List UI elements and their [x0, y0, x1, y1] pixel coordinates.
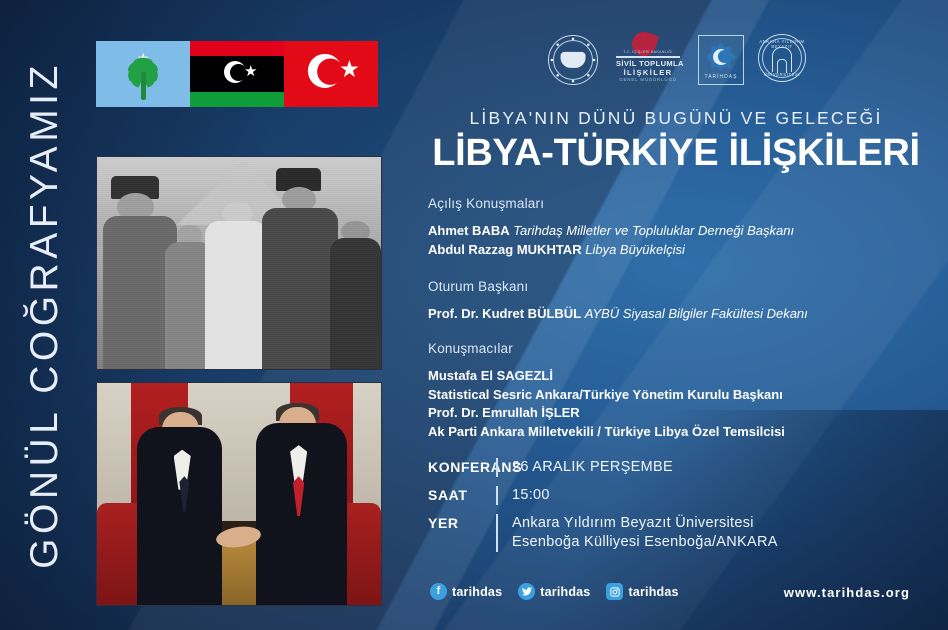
person-entry: Abdul Razzag MUKHTAR Libya Büyükelçisi [428, 241, 928, 259]
person-title: Libya Büyükelçisi [585, 242, 685, 257]
social-links: f tarihdas tarihdas tarihdas [430, 583, 686, 600]
side-title: GÖNÜL COĞRAFYAMIZ [14, 0, 76, 630]
person-title: Tarihdaş Milletler ve Topluluklar Derneğ… [513, 223, 794, 238]
turkey-flag: ★ [284, 41, 378, 107]
detail-label: SAAT [428, 486, 496, 503]
instagram-icon[interactable] [606, 583, 623, 600]
person-name: Abdul Razzag MUKHTAR [428, 242, 582, 257]
person-entry: Ahmet BABA Tarihdaş Milletler ve Toplulu… [428, 222, 928, 240]
social-link-facebook[interactable]: f tarihdas [430, 583, 502, 600]
detail-row-venue: YER Ankara Yıldırım Beyazıt Üniversitesi… [428, 514, 778, 552]
stk-line3: GENEL MÜDÜRLÜĞÜ [616, 77, 680, 82]
modern-photo [96, 382, 382, 606]
poster-kicker: LİBYA'NIN DÜNÜ BUGÜNÜ VE GELECEĞİ [426, 108, 926, 129]
person-entry: Prof. Dr. Kudret BÜLBÜL AYBÜ Siyasal Bil… [428, 305, 928, 323]
speaker-line: Statistical Sesric Ankara/Türkiye Yöneti… [428, 386, 928, 405]
tarihdas-logo: TARİHDAŞ [698, 35, 744, 85]
libya-green-stripe [190, 92, 284, 107]
side-title-text: GÖNÜL COĞRAFYAMIZ [23, 61, 67, 569]
social-handle: tarihdas [628, 585, 678, 599]
crescent-star-icon: ★ [224, 61, 250, 87]
social-link-instagram[interactable]: tarihdas [606, 583, 678, 600]
social-handle: tarihdas [452, 585, 502, 599]
stk-line2: İLİŞKİLER [616, 68, 680, 77]
libya-flag: ★ [190, 41, 284, 107]
ministry-logo [548, 35, 598, 85]
event-details: KONFERANS 26 ARALIK PERŞEMBE SAAT 15:00 … [428, 458, 778, 561]
libya-red-stripe [190, 41, 284, 56]
person-title: AYBÜ Siyasal Bilgiler Fakültesi Dekanı [585, 306, 808, 321]
social-link-twitter[interactable]: tarihdas [518, 583, 590, 600]
detail-divider [496, 514, 498, 552]
stk-line1: SİVİL TOPLUMLA [616, 59, 680, 68]
speaker-line: Mustafa El SAGEZLİ [428, 367, 928, 386]
section-label-chair: Oturum Başkanı [428, 279, 928, 294]
crescent-star-icon: ★ [308, 54, 348, 94]
facebook-icon[interactable]: f [430, 583, 447, 600]
website-url[interactable]: www.tarihdas.org [784, 585, 910, 600]
sivil-toplum-logo: T.C. İÇİŞLERİ BAKANLIĞI SİVİL TOPLUMLA İ… [612, 36, 684, 84]
detail-value: 15:00 [512, 486, 550, 505]
tarihdas-logo-label: TARİHDAŞ [698, 74, 744, 80]
arch-icon [772, 47, 792, 72]
section-label-opening: Açılış Konuşmaları [428, 196, 928, 211]
speaker-line: Ak Parti Ankara Milletvekili / Türkiye L… [428, 423, 928, 442]
section-label-speakers: Konuşmacılar [428, 341, 928, 356]
historic-photo [96, 156, 382, 370]
detail-divider [496, 458, 498, 477]
detail-row-time: SAAT 15:00 [428, 486, 778, 505]
person-name: Prof. Dr. Kudret BÜLBÜL [428, 306, 581, 321]
logo-row: T.C. İÇİŞLERİ BAKANLIĞI SİVİL TOPLUMLA İ… [548, 34, 808, 86]
aybu-logo: ANKARA YILDIRIM BEYAZIT ÜNİVERSİTESİ [758, 34, 808, 86]
stk-line0: T.C. İÇİŞLERİ BAKANLIĞI [616, 50, 680, 54]
aybu-bottom-text: ÜNİVERSİTESİ [759, 72, 805, 77]
twitter-icon[interactable] [518, 583, 535, 600]
program-content: Açılış Konuşmaları Ahmet BABA Tarihdaş M… [428, 196, 928, 441]
detail-divider [496, 486, 498, 505]
social-handle: tarihdas [540, 585, 590, 599]
speaker-line: Prof. Dr. Emrullah İŞLER [428, 404, 928, 423]
conference-poster: GÖNÜL COĞRAFYAMIZ ★ ★ ★ [0, 0, 948, 630]
flag-row: ★ ★ ★ [96, 41, 380, 107]
poster-headline: LİBYA-TÜRKİYE İLİŞKİLERİ [404, 132, 948, 175]
detail-value: 26 ARALIK PERŞEMBE [512, 458, 673, 477]
detail-label: KONFERANS [428, 458, 496, 475]
detail-label: YER [428, 514, 496, 531]
person-name: Ahmet BABA [428, 223, 510, 238]
detail-value: Ankara Yıldırım Beyazıt Üniversitesi Ese… [512, 514, 778, 552]
stk-mark-icon [629, 29, 659, 59]
tripolitania-flag: ★ [96, 41, 190, 107]
palm-trunk-icon [141, 72, 146, 100]
detail-row-conference: KONFERANS 26 ARALIK PERŞEMBE [428, 458, 778, 477]
